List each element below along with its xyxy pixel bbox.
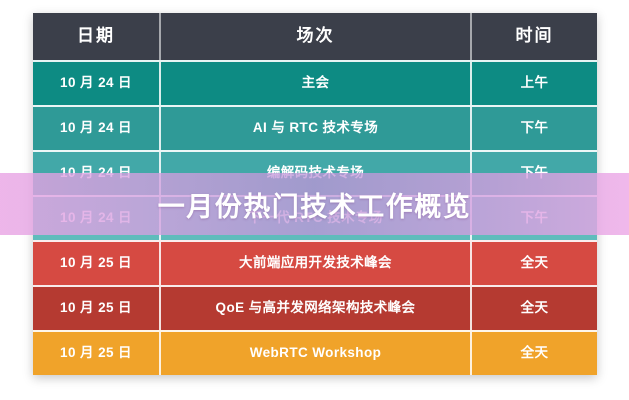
table-row[interactable]: 10 月 24 日 主会 上午 [33, 60, 597, 105]
cell-date: 10 月 25 日 [33, 287, 159, 330]
cell-time: 上午 [472, 62, 597, 105]
cell-time: 下午 [472, 107, 597, 150]
cell-session: AI 与 RTC 技术专场 [159, 107, 472, 150]
cell-date: 10 月 24 日 [33, 62, 159, 105]
cell-session: QoE 与高并发网络架构技术峰会 [159, 287, 472, 330]
banner-title-text: 一月份热门技术工作概览 [158, 185, 472, 224]
table-row[interactable]: 10 月 24 日 AI 与 RTC 技术专场 下午 [33, 105, 597, 150]
cell-time: 全天 [472, 287, 597, 330]
cell-date: 10 月 25 日 [33, 332, 159, 375]
overlay-title-banner: 一月份热门技术工作概览 [0, 173, 629, 235]
screenshot-stage: 日期 场次 时间 10 月 24 日 主会 上午 10 月 24 日 AI 与 … [0, 0, 629, 400]
table-row[interactable]: 10 月 25 日 WebRTC Workshop 全天 [33, 330, 597, 375]
cell-time: 全天 [472, 332, 597, 375]
cell-date: 10 月 25 日 [33, 242, 159, 285]
cell-session: 主会 [159, 62, 472, 105]
table-header-row: 日期 场次 时间 [33, 13, 597, 60]
cell-date: 10 月 24 日 [33, 107, 159, 150]
column-header-time: 时间 [472, 13, 597, 60]
cell-time: 全天 [472, 242, 597, 285]
cell-session: WebRTC Workshop [159, 332, 472, 375]
column-header-date: 日期 [33, 13, 159, 60]
column-header-session: 场次 [159, 13, 472, 60]
cell-session: 大前端应用开发技术峰会 [159, 242, 472, 285]
table-row[interactable]: 10 月 25 日 大前端应用开发技术峰会 全天 [33, 240, 597, 285]
table-row[interactable]: 10 月 25 日 QoE 与高并发网络架构技术峰会 全天 [33, 285, 597, 330]
